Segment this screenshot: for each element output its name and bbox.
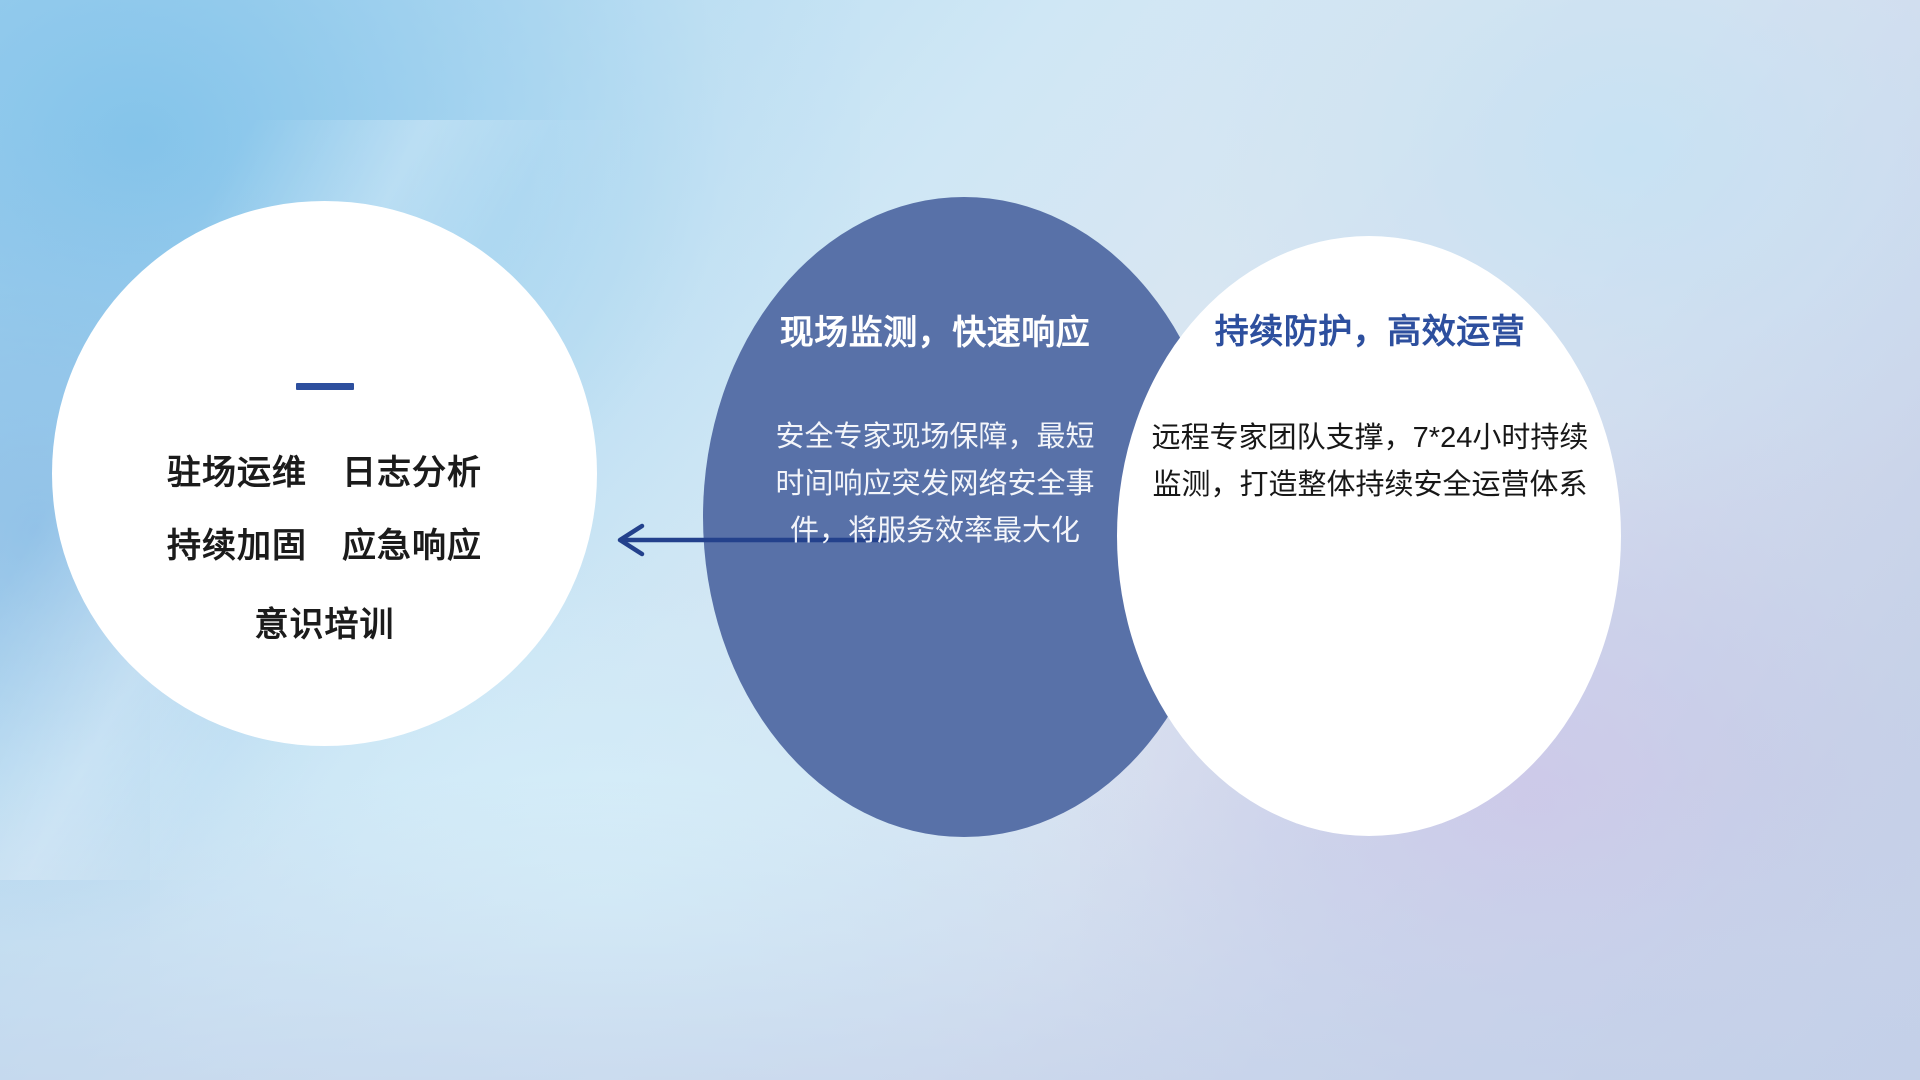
slide-canvas: 驻场运维 日志分析 持续加固 应急响应 意识培训 现场监测，快速响应 安全专家现… xyxy=(0,0,1920,1080)
left-service-line-2: 持续加固 应急响应 xyxy=(167,518,482,567)
middle-circle-title: 现场监测，快速响应 xyxy=(780,305,1091,354)
right-circle-content: 持续防护，高效运营 远程专家团队支撑，7*24小时持续监测，打造整体持续安全运营… xyxy=(1135,252,1605,812)
right-circle-body: 远程专家团队支撑，7*24小时持续监测，打造整体持续安全运营体系 xyxy=(1150,415,1590,509)
left-divider xyxy=(296,383,354,390)
right-circle-title: 持续防护，高效运营 xyxy=(1215,304,1526,353)
left-service-line-1: 驻场运维 日志分析 xyxy=(167,445,482,494)
middle-circle-body: 安全专家现场保障，最短时间响应突发网络安全事件，将服务效率最大化 xyxy=(775,414,1095,555)
middle-circle-content: 现场监测，快速响应 安全专家现场保障，最短时间响应突发网络安全事件，将服务效率最… xyxy=(735,250,1135,790)
left-circle-content: 驻场运维 日志分析 持续加固 应急响应 意识培训 xyxy=(52,201,597,746)
left-service-line-3: 意识培训 xyxy=(255,597,395,646)
